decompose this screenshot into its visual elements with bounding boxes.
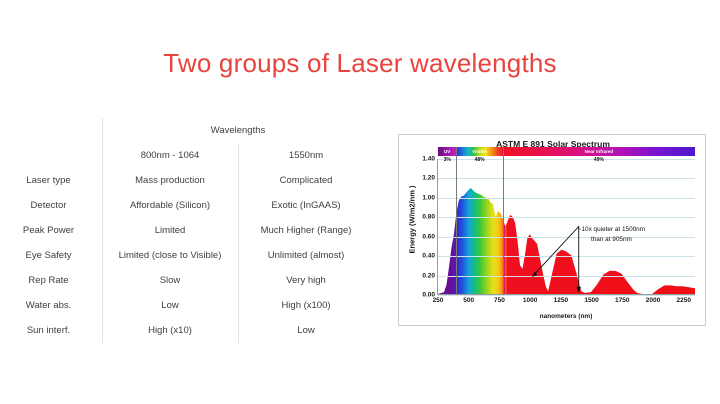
spectrum-band-divider [503, 147, 504, 295]
table-cell-800nm: Limited (close to Visible) [102, 243, 238, 268]
chart-annotation-line1: ~10x quieter at 1500nm [578, 225, 645, 235]
table-row: DetectorAffordable (Silicon)Exotic (InGA… [4, 193, 374, 218]
chart-x-tick-label: 1000 [523, 297, 537, 304]
table-group-header: Wavelengths [102, 118, 374, 143]
table-cell-1550nm: Very high [238, 268, 374, 293]
table-cell-1550nm: Much Higher (Range) [238, 218, 374, 243]
table-cell-1550nm: Unlimited (almost) [238, 243, 374, 268]
chart-gridline [438, 256, 695, 257]
spectrum-band-percent: 49% [503, 156, 695, 165]
table-row: Eye SafetyLimited (close to Visible)Unli… [4, 243, 374, 268]
table-cell-1550nm: Exotic (InGAAS) [238, 193, 374, 218]
chart-y-tick-label: 1.20 [422, 175, 435, 182]
table-corner-cell-2 [4, 143, 102, 168]
spectrum-band-divider [456, 147, 457, 295]
spectrum-band-label: UV [438, 147, 456, 156]
spectrum-band-percent: 48% [456, 156, 503, 165]
table-cell-800nm: Mass production [102, 168, 238, 193]
chart-x-tick-label: 2250 [676, 297, 690, 304]
chart-x-tick-label: 1750 [615, 297, 629, 304]
chart-y-tick-label: 1.00 [422, 194, 435, 201]
table-cell-1550nm: High (x100) [238, 293, 374, 318]
chart-annotation-line2: than at 905nm [578, 235, 645, 245]
chart-x-tick-label: 750 [494, 297, 505, 304]
chart-x-tick-label: 250 [433, 297, 444, 304]
chart-plot-area: 0.000.200.400.600.801.001.201.4025050075… [437, 159, 695, 295]
chart-y-tick-label: 0.20 [422, 272, 435, 279]
chart-y-tick-label: 0.40 [422, 253, 435, 260]
chart-y-tick-label: 0.60 [422, 233, 435, 240]
chart-y-tick-label: 0.80 [422, 214, 435, 221]
chart-gridline [438, 276, 695, 277]
table-row-label: Eye Safety [4, 243, 102, 268]
table-row-label: Rep Rate [4, 268, 102, 293]
spectrum-band-visible: Visible48% [456, 147, 503, 156]
comparison-table: Wavelengths 800nm - 1064 1550nm Laser ty… [4, 118, 374, 343]
spectrum-band-strip: UV3%Visible48%Near Infrared49% [438, 147, 695, 156]
table-header-group-row: Wavelengths [4, 118, 374, 143]
chart-y-axis-label: Energy (W/m2/nm ) [408, 160, 417, 280]
chart-gridline [438, 217, 695, 218]
table-row: Peak PowerLimitedMuch Higher (Range) [4, 218, 374, 243]
chart-gridline [438, 237, 695, 238]
chart-x-tick-label: 2000 [646, 297, 660, 304]
table-cell-800nm: Low [102, 293, 238, 318]
table-column-header-b: 1550nm [238, 143, 374, 168]
table-corner-cell [4, 118, 102, 143]
table-column-header-a: 800nm - 1064 [102, 143, 238, 168]
table-row-label: Detector [4, 193, 102, 218]
table-cell-800nm: Slow [102, 268, 238, 293]
table-row: Water abs.LowHigh (x100) [4, 293, 374, 318]
table-cell-800nm: Affordable (Silicon) [102, 193, 238, 218]
spectrum-band-near-infrared: Near Infrared49% [503, 147, 695, 156]
table-header-sub-row: 800nm - 1064 1550nm [4, 143, 374, 168]
table-cell-1550nm: Complicated [238, 168, 374, 193]
table-row: Sun interf.High (x10)Low [4, 318, 374, 343]
table-cell-800nm: Limited [102, 218, 238, 243]
chart-x-tick-label: 1250 [554, 297, 568, 304]
table-row-label: Peak Power [4, 218, 102, 243]
chart-gridline [438, 295, 695, 296]
chart-x-tick-label: 1500 [584, 297, 598, 304]
chart-gridline [438, 178, 695, 179]
chart-x-tick-label: 500 [463, 297, 474, 304]
table-row-label: Sun interf. [4, 318, 102, 343]
spectrum-band-label: Visible [456, 147, 503, 156]
chart-y-tick-label: 1.40 [422, 156, 435, 163]
table-row: Rep RateSlowVery high [4, 268, 374, 293]
solar-spectrum-chart: ASTM E 891 Solar Spectrum Energy (W/m2/n… [398, 134, 706, 326]
comparison-table-wrapper: Wavelengths 800nm - 1064 1550nm Laser ty… [4, 118, 374, 343]
spectrum-band-percent: 3% [438, 156, 456, 165]
table-row-label: Laser type [4, 168, 102, 193]
spectrum-curve [438, 188, 695, 294]
chart-gridline [438, 198, 695, 199]
spectrum-band-uv: UV3% [438, 147, 456, 156]
chart-annotation: ~10x quieter at 1500nmthan at 905nm [578, 225, 645, 245]
table-cell-1550nm: Low [238, 318, 374, 343]
table-row: Laser typeMass productionComplicated [4, 168, 374, 193]
spectrum-band-label: Near Infrared [503, 147, 695, 156]
table-cell-800nm: High (x10) [102, 318, 238, 343]
page-title: Two groups of Laser wavelengths [0, 48, 720, 79]
slide-root: Two groups of Laser wavelengths Waveleng… [0, 0, 720, 404]
chart-x-axis-label: nanometers (nm) [437, 313, 695, 320]
table-row-label: Water abs. [4, 293, 102, 318]
